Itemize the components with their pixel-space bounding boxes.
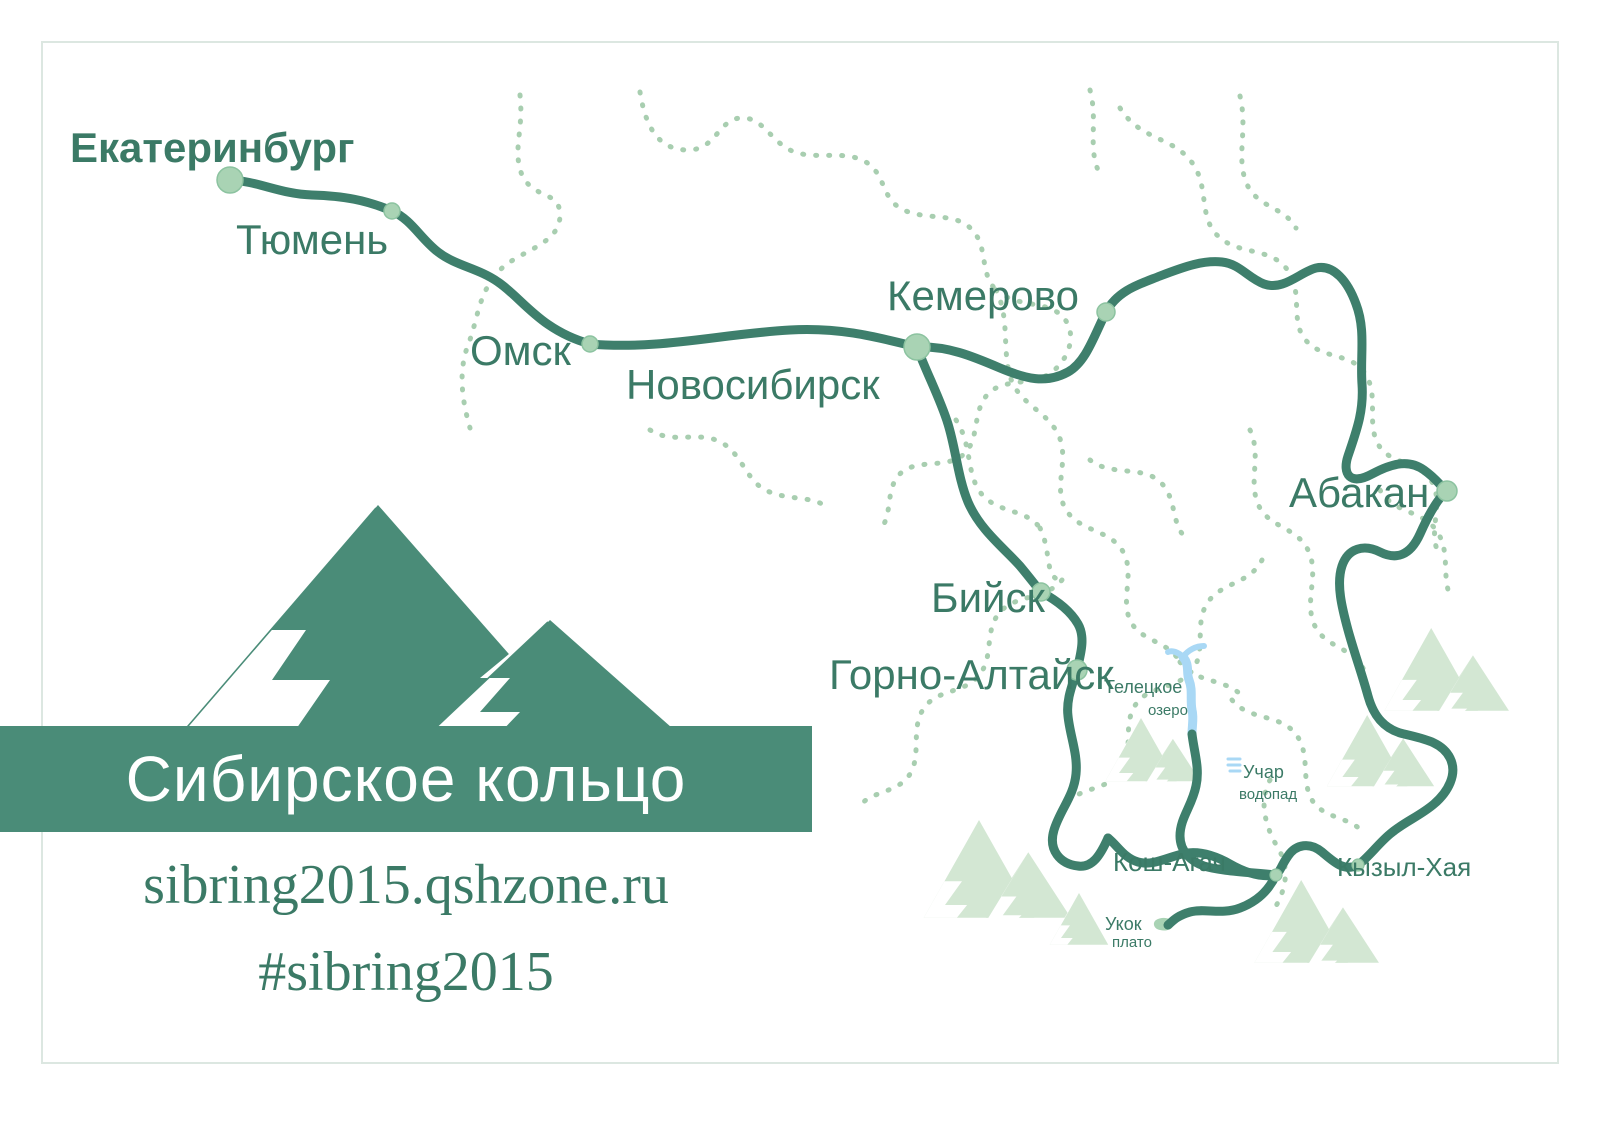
landmark-sublabel-uchar: водопад (1239, 787, 1297, 802)
city-label-kemerovo: Кемерово (887, 275, 1079, 317)
landmark-label-uchar: Учар (1243, 763, 1284, 781)
landmark-label-ukok: Укок (1105, 915, 1142, 933)
brand-block: Сибирское кольцо sibring2015.qshzone.ru … (0, 495, 812, 1040)
poster-title: Сибирское кольцо (0, 726, 812, 832)
city-label-ekaterinburg: Екатеринбург (70, 127, 355, 169)
city-label-kosh-agach: Кош-Агач (1113, 849, 1226, 875)
poster-canvas: Екатеринбург Тюмень Омск Новосибирск Кем… (0, 0, 1600, 1130)
city-label-tyumen: Тюмень (236, 219, 388, 261)
waterfall-icon (1228, 759, 1240, 771)
landmark-sublabel-ukok: плато (1112, 935, 1152, 950)
landmark-label-teletskoye: Телецкое (1104, 678, 1182, 696)
city-label-kyzyl-khaya: Кызыл-Хая (1337, 854, 1471, 880)
city-label-abakan: Абакан (1289, 472, 1429, 514)
site-url-text[interactable]: sibring2015.qshzone.ru (0, 853, 812, 917)
hashtag-text: #sibring2015 (0, 940, 812, 1004)
title-banner: Сибирское кольцо (0, 726, 812, 832)
city-label-gorno-altaysk: Горно-Алтайск (829, 654, 1114, 696)
city-label-novosibirsk: Новосибирск (626, 364, 880, 406)
landmark-sublabel-teletskoye: озеро (1148, 703, 1188, 718)
city-label-omsk: Омск (470, 330, 571, 372)
city-label-biysk: Бийск (931, 577, 1045, 619)
